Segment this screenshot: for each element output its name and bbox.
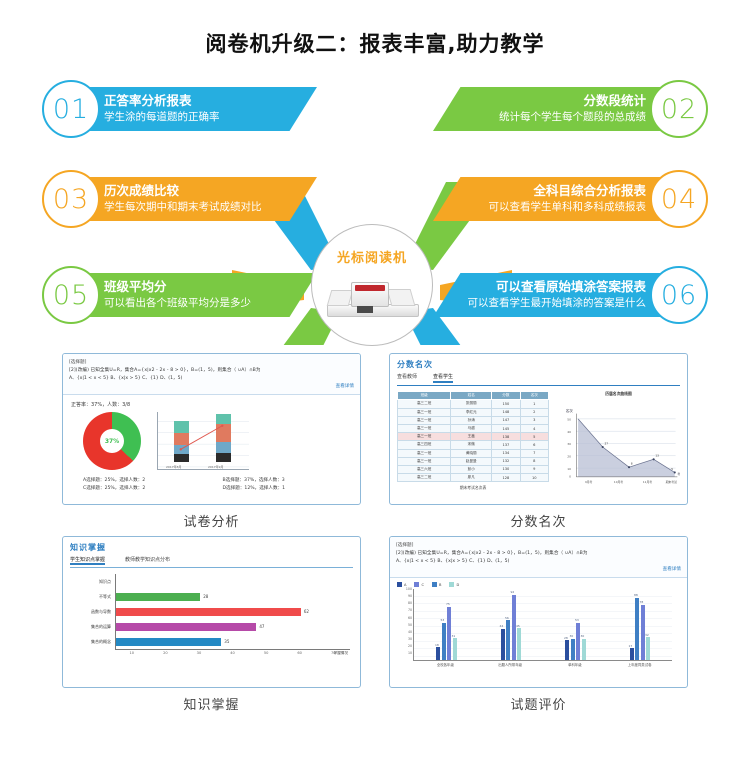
svg-text:30: 30 xyxy=(567,442,571,446)
cell-class: 高三二班 xyxy=(398,474,451,482)
feature-title-04: 全科目综合分析报表 xyxy=(433,183,646,200)
ytick-50: 50 xyxy=(408,623,412,627)
ytick-80: 80 xyxy=(408,601,412,605)
bar-row-3: 集合的概念 35 xyxy=(73,634,350,649)
cell-rank: 4 xyxy=(520,424,548,432)
bar-label-0: 不等式 xyxy=(73,594,115,600)
question-tag-2: [选择题] xyxy=(396,542,681,550)
question-options-2: A、{x|1 < x < 5} B、{x|x > 5} C、{1} D、(1，5… xyxy=(396,558,681,566)
bar-group-3: 17 88 78 32 xyxy=(630,589,651,660)
bar-row-1: 函数与导数 62 xyxy=(73,604,350,619)
knowledge-screenshot[interactable]: 知识掌握 学生知识点掌握 教师教学知识点分布 知识点 不等式 28 函数与导数 … xyxy=(62,536,361,688)
feature-title-05: 班级平均分 xyxy=(104,279,317,296)
cell-rank: 2 xyxy=(520,408,548,416)
ytick-100: 100 xyxy=(406,587,412,591)
tab-teacher-knowledge[interactable]: 教师教学知识点分布 xyxy=(125,556,170,565)
feature-text-02: 分数段统计 统计每个学生每个题段的总成绩 xyxy=(433,87,662,131)
bar-a-0: 18 xyxy=(436,647,440,660)
ytick-20: 20 xyxy=(408,644,412,648)
cell-score: 147 xyxy=(492,416,520,424)
donut-value-label: 37% xyxy=(83,412,141,470)
feature-number-04: 04 xyxy=(650,170,708,228)
panel-caption-rank: 分数名次 xyxy=(510,511,566,530)
svg-text:27: 27 xyxy=(604,441,608,445)
exam-analysis-body: 正答率：37%，人数：3/8 37% xyxy=(63,395,360,497)
cell-class: 高三一班 xyxy=(398,457,451,465)
knowledge-ylabel: 知识点 xyxy=(73,579,115,585)
svg-text:50: 50 xyxy=(567,418,571,422)
table-row[interactable]: 高三一班赵曼曼1328 xyxy=(398,457,549,465)
knowledge-xaxis: 10 20 30 40 50 60 70 掌握情况 xyxy=(115,649,350,659)
cell-class: 高三一班 xyxy=(398,433,451,441)
cell-rank: 10 xyxy=(520,474,548,482)
correct-rate-text: 正答率：37%，人数：3/8 xyxy=(71,401,352,408)
scanner-icon xyxy=(323,276,421,320)
feature-number-06: 06 xyxy=(650,266,708,324)
feature-text-03: 历次成绩比较 学生每次期中和期末考试成绩对比 xyxy=(88,177,317,221)
cell-name: 马越 xyxy=(451,424,492,432)
hub-label: 光标阅读机 xyxy=(337,247,407,266)
feature-subtitle-06: 可以查看学生最开始填涂的答案是什么 xyxy=(433,296,646,310)
evaluation-legend: A C B D xyxy=(397,582,680,587)
feature-number-02: 02 xyxy=(650,80,708,138)
knowledge-xlabel: 掌握情况 xyxy=(334,651,348,656)
option-stats-legend: A选择题：25%，选择人数：2 B选择题：37%，选择人数：3 C选择题：25%… xyxy=(71,477,352,491)
bar-d-1: 45 xyxy=(517,628,521,660)
evaluation-screenshot[interactable]: [选择题] [2](改编) 已知全集U=R，集合A={x|x2 - 2x - 8… xyxy=(389,536,688,688)
cell-score: 132 xyxy=(492,457,520,465)
cell-score: 134 xyxy=(492,449,520,457)
legend-chip-b xyxy=(432,582,437,587)
legend-item-b: B xyxy=(432,582,441,587)
col-name: 姓名 xyxy=(451,392,492,400)
panel-caption-evaluation: 试题评价 xyxy=(510,694,566,713)
bar-group-2: 28 30 53 30 xyxy=(565,589,586,660)
cell-rank: 7 xyxy=(520,449,548,457)
table-row-highlighted[interactable]: 高三一班王鑫1385 xyxy=(398,433,549,441)
ytick-30: 30 xyxy=(408,637,412,641)
xtick-2: 30 xyxy=(182,650,216,659)
bar-group-1: 44 56 92 45 xyxy=(501,589,522,660)
bar-value-0: 28 xyxy=(203,594,208,599)
svg-text:13: 13 xyxy=(655,454,659,458)
screenshot-gallery: [选择题] [2](改编) 已知全集U=R，集合A={x|x2 - 2x - 8… xyxy=(0,353,750,713)
question-options: A、{x|1 < x < 5} B、{x|x > 5} C、{1} D、(1，5… xyxy=(69,375,354,383)
legend-item-d: D xyxy=(449,582,459,587)
cell-rank: 5 xyxy=(520,433,548,441)
svg-text:5: 5 xyxy=(671,467,673,471)
svg-text:0: 0 xyxy=(569,475,571,479)
cell-name: 彭小 xyxy=(451,465,492,473)
svg-text:名次: 名次 xyxy=(566,408,574,413)
feature-subtitle-03: 学生每次期中和期末考试成绩对比 xyxy=(104,200,317,214)
feature-text-04: 全科目综合分析报表 可以查看学生单科和多科成绩报表 xyxy=(433,177,662,221)
xlabel-1: 出题人所带年级 xyxy=(480,662,540,667)
cell-name: 李红元 xyxy=(451,408,492,416)
feature-text-06: 可以查看原始填涂答案报表 可以查看学生最开始填涂的答案是什么 xyxy=(433,273,662,317)
score-rank-screenshot[interactable]: 分数名次 查看教师 查看学生 班级 姓名 分数 名次 xyxy=(389,353,688,505)
question-box-2: [选择题] [2](改编) 已知全集U=R，集合A={x|x2 - 2x - 8… xyxy=(390,537,687,578)
cell-score: 130 xyxy=(492,465,520,473)
exam-charts: 37% xyxy=(71,412,352,470)
rank-table: 班级 姓名 分数 名次 高三二班张丽丽1501 高三一班李红元1482 高三一班… xyxy=(397,391,549,482)
svg-text:考试: 考试 xyxy=(677,472,680,476)
feature-title-02: 分数段统计 xyxy=(433,93,646,110)
page-title: 阅卷机升级二：报表丰富,助力教学 xyxy=(0,0,750,58)
svg-text:10月考: 10月考 xyxy=(614,480,623,484)
bar-value-3: 35 xyxy=(224,639,229,644)
panel-exam-analysis: [选择题] [2](改编) 已知全集U=R，集合A={x|x2 - 2x - 8… xyxy=(62,353,361,530)
cell-class: 高三四班 xyxy=(398,441,451,449)
xtick-3: 40 xyxy=(216,650,250,659)
col-score: 分数 xyxy=(492,392,520,400)
correct-rate-donut-chart: 37% xyxy=(83,412,141,470)
bar-a-2: 28 xyxy=(565,640,569,660)
cell-rank: 1 xyxy=(520,400,548,408)
bar-label-2: 集合的运算 xyxy=(73,624,115,630)
legend-chip-a xyxy=(397,582,402,587)
feature-number-03: 03 xyxy=(42,170,100,228)
col-class: 班级 xyxy=(398,392,451,400)
feature-banner-05[interactable]: 05 班级平均分 可以看出各个班级平均分是多少 xyxy=(42,266,317,324)
ytick-70: 70 xyxy=(408,608,412,612)
cell-name: 孙涛 xyxy=(451,416,492,424)
bar-c-3: 78 xyxy=(641,605,645,660)
svg-text:40: 40 xyxy=(567,430,571,434)
cell-rank: 9 xyxy=(520,465,548,473)
svg-text:20: 20 xyxy=(567,455,571,459)
xtick-0: 10 xyxy=(115,650,149,659)
bar-d-0: 31 xyxy=(453,638,457,660)
cell-score: 150 xyxy=(492,400,520,408)
evaluation-grouped-bar-chart: 100 90 80 70 60 50 40 30 20 10 18 xyxy=(413,589,672,661)
knowledge-bar-chart: 知识点 不等式 28 函数与导数 62 集合的运算 47 集合的概念 35 xyxy=(63,568,360,659)
panel-knowledge: 知识掌握 学生知识点掌握 教师教学知识点分布 知识点 不等式 28 函数与导数 … xyxy=(62,536,361,713)
ytick-90: 90 xyxy=(408,594,412,598)
option-stat-a: A选择题：25%，选择人数：2 xyxy=(83,477,213,483)
exam-analysis-screenshot[interactable]: [选择题] [2](改编) 已知全集U=R，集合A={x|x2 - 2x - 8… xyxy=(62,353,361,505)
feature-number-05: 05 xyxy=(42,266,100,324)
knowledge-header: 知识掌握 学生知识点掌握 教师教学知识点分布 xyxy=(63,537,360,568)
legend-label-d: D xyxy=(456,583,459,587)
question-stem-2: [2](改编) 已知全集U=R，集合A={x|x2 - 2x - 8 > 0}，… xyxy=(396,550,681,558)
rank-curve-chart: 历届名次曲线图 xyxy=(557,391,680,495)
bar-b-0: 53 xyxy=(442,623,446,661)
legend-chip-c xyxy=(414,582,419,587)
view-detail-link-2[interactable]: 查看详情 xyxy=(396,566,681,574)
rank-table-body: 高三二班张丽丽1501 高三一班李红元1482 高三一班孙涛1473 高三一班马… xyxy=(398,400,549,482)
trend-line xyxy=(158,412,249,469)
cell-name: 王鑫 xyxy=(451,433,492,441)
question-tag: [选择题] xyxy=(69,359,354,367)
table-row[interactable]: 高三四班宋微1376 xyxy=(398,441,549,449)
feature-number-01: 01 xyxy=(42,80,100,138)
cell-score: 137 xyxy=(492,441,520,449)
feature-banner-02[interactable]: 02 分数段统计 统计每个学生每个题段的总成绩 xyxy=(433,80,708,138)
cell-score: 138 xyxy=(492,433,520,441)
bar-d-3: 32 xyxy=(646,637,650,660)
evaluation-body: A C B D 各题得分率统计 得分率 100 90 80 70 60 xyxy=(390,578,687,671)
option-stat-b: B选择题：37%，选择人数：3 xyxy=(223,477,353,483)
bar-xlabel-1: 2017年9月 xyxy=(208,465,224,469)
bar-group-0: 18 53 75 31 xyxy=(436,589,457,660)
table-row[interactable]: 高三二班张丽丽1501 xyxy=(398,400,549,408)
bar-a-3: 17 xyxy=(630,648,634,660)
ytick-40: 40 xyxy=(408,630,412,634)
feature-title-01: 正答率分析报表 xyxy=(104,93,317,110)
table-row[interactable]: 高三一班马越1454 xyxy=(398,424,549,432)
ytick-10: 10 xyxy=(408,651,412,655)
panel-caption-exam: 试卷分析 xyxy=(183,511,239,530)
svg-text:11月考: 11月考 xyxy=(643,480,652,484)
rank-table-caption: 期末考试名次表 xyxy=(397,485,549,491)
bar-c-1: 92 xyxy=(512,595,516,660)
rank-curve-title: 历届名次曲线图 xyxy=(605,391,632,397)
xlabel-2: 单科年级 xyxy=(545,662,605,667)
bar-c-0: 75 xyxy=(447,607,451,660)
bar-value-1: 62 xyxy=(304,609,309,614)
bar-b-3: 88 xyxy=(635,598,639,660)
table-row[interactable]: 高三一班黄晓丽1347 xyxy=(398,449,549,457)
tab-view-teacher[interactable]: 查看教师 xyxy=(397,373,417,383)
svg-text:8: 8 xyxy=(631,462,633,466)
xtick-1: 20 xyxy=(149,650,183,659)
knowledge-tabs: 学生知识点掌握 教师教学知识点分布 xyxy=(70,556,353,568)
knowledge-title: 知识掌握 xyxy=(70,542,353,553)
col-rank: 名次 xyxy=(520,392,548,400)
question-box: [选择题] [2](改编) 已知全集U=R，集合A={x|x2 - 2x - 8… xyxy=(63,354,360,395)
panel-caption-knowledge: 知识掌握 xyxy=(183,694,239,713)
table-row[interactable]: 高三六班彭小1309 xyxy=(398,465,549,473)
cell-class: 高三六班 xyxy=(398,465,451,473)
cell-name: 宋微 xyxy=(451,441,492,449)
tab-student-knowledge[interactable]: 学生知识点掌握 xyxy=(70,556,105,565)
bar-label-1: 函数与导数 xyxy=(73,609,115,615)
feature-title-03: 历次成绩比较 xyxy=(104,183,317,200)
cell-score: 128 xyxy=(492,474,520,482)
cell-class: 高三一班 xyxy=(398,424,451,432)
feature-subtitle-02: 统计每个学生每个题段的总成绩 xyxy=(433,110,646,124)
center-hub: 光标阅读机 xyxy=(311,224,433,346)
panel-score-rank: 分数名次 查看教师 查看学生 班级 姓名 分数 名次 xyxy=(389,353,688,530)
bar-value-2: 47 xyxy=(259,624,264,629)
feature-banner-03[interactable]: 03 历次成绩比较 学生每次期中和期末考试成绩对比 xyxy=(42,170,317,228)
bar-xlabel-0: 2017年8月 xyxy=(166,465,182,469)
cell-score: 145 xyxy=(492,424,520,432)
feature-banner-06[interactable]: 06 可以查看原始填涂答案报表 可以查看学生最开始填涂的答案是什么 xyxy=(433,266,708,324)
feature-diagram: 光标阅读机 01 正答率分析报表 学生涂的每道题的正确率 02 分数段统计 统计… xyxy=(0,70,750,345)
feature-text-05: 班级平均分 可以看出各个班级平均分是多少 xyxy=(88,273,317,317)
view-detail-link[interactable]: 查看详情 xyxy=(69,383,354,391)
table-row[interactable]: 高三一班李红元1482 xyxy=(398,408,549,416)
legend-chip-d xyxy=(449,582,454,587)
svg-text:9月考: 9月考 xyxy=(585,480,593,484)
xtick-4: 50 xyxy=(249,650,283,659)
cell-name: 赵曼曼 xyxy=(451,457,492,465)
cell-class: 高三一班 xyxy=(398,416,451,424)
cell-name: 黄晓丽 xyxy=(451,449,492,457)
cell-class: 高三一班 xyxy=(398,408,451,416)
cell-name: 廖凡 xyxy=(451,474,492,482)
score-rank-header: 分数名次 查看教师 查看学生 xyxy=(390,354,687,386)
option-stat-c: C选择题：25%，选择人数：2 xyxy=(83,485,213,491)
evaluation-yaxis: 100 90 80 70 60 50 40 30 20 10 xyxy=(400,589,413,660)
bar-b-1: 56 xyxy=(506,620,510,660)
cell-rank: 6 xyxy=(520,441,548,449)
cell-class: 高三二班 xyxy=(398,400,451,408)
feature-subtitle-05: 可以看出各个班级平均分是多少 xyxy=(104,296,317,310)
legend-label-b: B xyxy=(439,583,441,587)
cell-rank: 3 xyxy=(520,416,548,424)
svg-text:10: 10 xyxy=(567,467,571,471)
bar-b-2: 30 xyxy=(571,639,575,660)
cell-score: 148 xyxy=(492,408,520,416)
panel-evaluation: [选择题] [2](改编) 已知全集U=R，集合A={x|x2 - 2x - 8… xyxy=(389,536,688,713)
legend-item-c: C xyxy=(414,582,424,587)
svg-text:期末考试: 期末考试 xyxy=(666,480,677,484)
bar-d-2: 30 xyxy=(582,639,586,660)
score-rank-tabs: 查看教师 查看学生 xyxy=(397,373,680,386)
xlabel-3: 上年度同类试卷 xyxy=(610,662,670,667)
table-row[interactable]: 高三二班廖凡12810 xyxy=(398,474,549,482)
score-rank-title: 分数名次 xyxy=(397,359,680,370)
cell-rank: 8 xyxy=(520,457,548,465)
score-rank-body: 班级 姓名 分数 名次 高三二班张丽丽1501 高三一班李红元1482 高三一班… xyxy=(390,386,687,500)
bar-row-2: 集合的运算 47 xyxy=(73,619,350,634)
feature-text-01: 正答率分析报表 学生涂的每道题的正确率 xyxy=(88,87,317,131)
feature-subtitle-04: 可以查看学生单科和多科成绩报表 xyxy=(433,200,646,214)
xtick-5: 60 xyxy=(283,650,317,659)
tab-view-student[interactable]: 查看学生 xyxy=(433,373,453,383)
xlabel-0: 全校各年级 xyxy=(415,662,475,667)
ytick-60: 60 xyxy=(408,616,412,620)
table-header-row: 班级 姓名 分数 名次 xyxy=(398,392,549,400)
bar-a-1: 44 xyxy=(501,629,505,660)
feature-banner-01[interactable]: 01 正答率分析报表 学生涂的每道题的正确率 xyxy=(42,80,317,138)
bar-c-2: 53 xyxy=(576,623,580,661)
bar-label-3: 集合的概念 xyxy=(73,639,115,645)
question-stem: [2](改编) 已知全集U=R，集合A={x|x2 - 2x - 8 > 0}，… xyxy=(69,367,354,375)
chart-ylabel-row: 知识点 xyxy=(73,574,350,589)
cell-class: 高三一班 xyxy=(398,449,451,457)
option-stat-d: D选择题：12%，选择人数：1 xyxy=(223,485,353,491)
legend-label-c: C xyxy=(421,583,424,587)
rank-area-svg: 名次 50 40 30 20 10 0 27 8 13 5 9月考 10月考 1… xyxy=(557,399,680,495)
stacked-bar-chart: 2017年8月 2017年9月 xyxy=(157,412,249,470)
cell-name: 张丽丽 xyxy=(451,400,492,408)
feature-banner-04[interactable]: 04 全科目综合分析报表 可以查看学生单科和多科成绩报表 xyxy=(433,170,708,228)
feature-subtitle-01: 学生涂的每道题的正确率 xyxy=(104,110,317,124)
evaluation-xlabels: 全校各年级 出题人所带年级 单科年级 上年度同类试卷 xyxy=(413,662,672,667)
feature-title-06: 可以查看原始填涂答案报表 xyxy=(433,279,646,296)
table-row[interactable]: 高三一班孙涛1473 xyxy=(398,416,549,424)
bar-row-0: 不等式 28 xyxy=(73,589,350,604)
